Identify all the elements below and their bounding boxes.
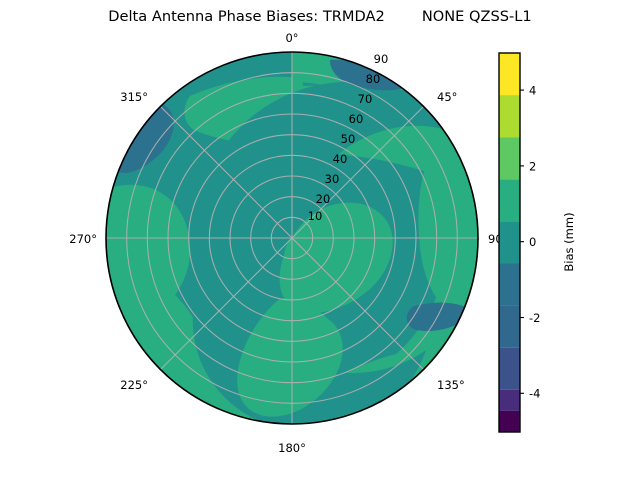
colorbar-label-4: 4 bbox=[529, 84, 536, 98]
colorbar-segment-1 bbox=[499, 390, 520, 411]
colorbar-segments bbox=[499, 53, 520, 432]
colorbar-segment-2 bbox=[499, 348, 520, 390]
colorbar-segment-9 bbox=[499, 53, 520, 95]
colorbar-segment-8 bbox=[499, 95, 520, 137]
colorbar-tick-labels: 4 2 0 -2 -4 bbox=[529, 84, 540, 401]
colorbar-label-neg4: -4 bbox=[529, 387, 540, 401]
colorbar-segment-6 bbox=[499, 179, 520, 221]
colorbar-label-2: 2 bbox=[529, 159, 536, 173]
figure-canvas: Delta Antenna Phase Biases: TRMDA2 NONE … bbox=[0, 0, 640, 480]
colorbar-label-neg2: -2 bbox=[529, 311, 540, 325]
colorbar-axis-title: Bias (mm) bbox=[562, 212, 576, 271]
colorbar-segment-7 bbox=[499, 137, 520, 179]
colorbar-segment-5 bbox=[499, 221, 520, 263]
colorbar-segment-3 bbox=[499, 306, 520, 348]
colorbar: 4 2 0 -2 -4 Bias (mm) bbox=[0, 0, 640, 480]
colorbar-label-0: 0 bbox=[529, 235, 536, 249]
colorbar-segment-0 bbox=[499, 411, 520, 432]
colorbar-segment-4 bbox=[499, 264, 520, 306]
